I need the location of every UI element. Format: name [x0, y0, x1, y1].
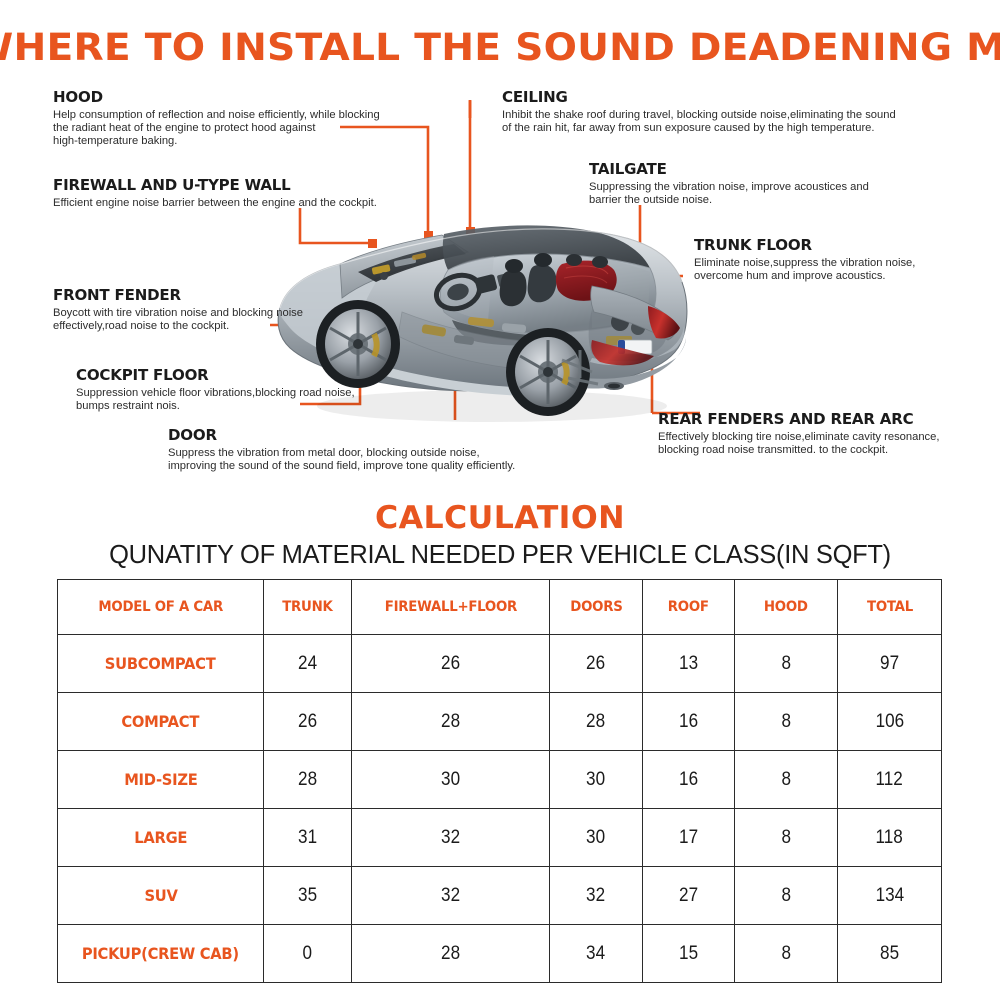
callout-ceiling: CEILING Inhibit the shake roof during tr… — [502, 88, 896, 135]
callout-hood-title: HOOD — [53, 88, 370, 106]
callout-firewall-line-1: Efficient engine noise barrier between t… — [53, 197, 377, 210]
callout-ceiling-body: Inhibit the shake roof during travel, bl… — [502, 109, 896, 135]
cell-trunk: 31 — [264, 809, 352, 867]
callout-tailgate-line-1: Suppressing the vibration noise, improve… — [589, 181, 869, 194]
callout-trunk-floor-line-1: Eliminate noise,suppress the vibration n… — [694, 257, 915, 270]
table-header-row: MODEL OF A CAR TRUNK FIREWALL+FLOOR DOOR… — [58, 580, 942, 635]
callout-hood-line-2: the radiant heat of the engine to protec… — [53, 122, 380, 135]
cell-total: 97 — [838, 635, 942, 693]
callout-hood-line-1: Help consumption of reflection and noise… — [53, 109, 380, 122]
cell-hood: 8 — [735, 635, 838, 693]
cell-roof: 15 — [643, 925, 735, 983]
cell-roof: 16 — [643, 751, 735, 809]
callout-cockpit-floor-line-2: bumps restraint nois. — [76, 400, 355, 413]
callout-trunk-floor-line-2: overcome hum and improve acoustics. — [694, 270, 915, 283]
cell-trunk: 26 — [264, 693, 352, 751]
callout-tailgate-body: Suppressing the vibration noise, improve… — [589, 181, 869, 207]
cell-trunk: 35 — [264, 867, 352, 925]
table-row: LARGE 31 32 30 17 8 118 — [58, 809, 942, 867]
callout-front-fender-body: Boycott with tire vibration noise and bl… — [53, 307, 303, 333]
cell-hood: 8 — [735, 867, 838, 925]
cell-trunk: 28 — [264, 751, 352, 809]
callout-ceiling-title: CEILING — [502, 88, 884, 106]
callout-door-line-1: Suppress the vibration from metal door, … — [168, 447, 515, 460]
callout-tailgate-line-2: barrier the outside noise. — [589, 194, 869, 207]
col-header-roof: ROOF — [643, 580, 735, 635]
cell-doors: 26 — [550, 635, 643, 693]
callout-front-fender-line-2: effectively,road noise to the cockpit. — [53, 320, 303, 333]
cell-firewall-floor: 32 — [352, 867, 550, 925]
callout-rear-fenders: REAR FENDERS AND REAR ARC Effectively bl… — [658, 410, 940, 457]
callout-trunk-floor-title: TRUNK FLOOR — [694, 236, 909, 254]
material-quantity-table: MODEL OF A CAR TRUNK FIREWALL+FLOOR DOOR… — [57, 579, 942, 983]
callout-ceiling-line-1: Inhibit the shake roof during travel, bl… — [502, 109, 896, 122]
callout-cockpit-floor-title: COCKPIT FLOOR — [76, 366, 346, 384]
calculation-subtitle: QUNATITY OF MATERIAL NEEDED PER VEHICLE … — [10, 539, 990, 570]
cell-firewall-floor: 30 — [352, 751, 550, 809]
cell-doors: 34 — [550, 925, 643, 983]
callout-firewall-title: FIREWALL AND U-TYPE WALL — [53, 176, 367, 194]
row-label-cell: SUBCOMPACT — [58, 635, 264, 693]
table-row: PICKUP(CREW CAB) 0 28 34 15 8 85 — [58, 925, 942, 983]
row-label-cell: PICKUP(CREW CAB) — [58, 925, 264, 983]
cell-doors: 30 — [550, 751, 643, 809]
callout-rear-fenders-title: REAR FENDERS AND REAR ARC — [658, 410, 931, 428]
col-header-total: TOTAL — [838, 580, 942, 635]
callout-cockpit-floor-line-1: Suppression vehicle floor vibrations,blo… — [76, 387, 355, 400]
cell-doors: 28 — [550, 693, 643, 751]
callout-cockpit-floor-body: Suppression vehicle floor vibrations,blo… — [76, 387, 355, 413]
callout-rear-fenders-body: Effectively blocking tire noise,eliminat… — [658, 431, 940, 457]
table-row: COMPACT 26 28 28 16 8 106 — [58, 693, 942, 751]
cell-roof: 17 — [643, 809, 735, 867]
callout-door-body: Suppress the vibration from metal door, … — [168, 447, 515, 473]
callout-front-fender-line-1: Boycott with tire vibration noise and bl… — [53, 307, 303, 320]
cell-trunk: 24 — [264, 635, 352, 693]
row-label-cell: COMPACT — [58, 693, 264, 751]
table-row: SUV 35 32 32 27 8 134 — [58, 867, 942, 925]
cell-hood: 8 — [735, 809, 838, 867]
col-header-model: MODEL OF A CAR — [58, 580, 264, 635]
cell-hood: 8 — [735, 751, 838, 809]
callout-hood-body: Help consumption of reflection and noise… — [53, 109, 380, 149]
row-label-cell: LARGE — [58, 809, 264, 867]
cell-total: 134 — [838, 867, 942, 925]
col-header-trunk: TRUNK — [264, 580, 352, 635]
callout-hood-line-3: high-temperature baking. — [53, 135, 380, 148]
callout-front-fender-title: FRONT FENDER — [53, 286, 296, 304]
row-label-cell: MID-SIZE — [58, 751, 264, 809]
table-row: SUBCOMPACT 24 26 26 13 8 97 — [58, 635, 942, 693]
callout-firewall-body: Efficient engine noise barrier between t… — [53, 197, 377, 210]
cell-firewall-floor: 32 — [352, 809, 550, 867]
cell-hood: 8 — [735, 693, 838, 751]
cell-total: 106 — [838, 693, 942, 751]
callout-door-line-2: improving the sound of the sound field, … — [168, 460, 515, 473]
callout-firewall: FIREWALL AND U-TYPE WALL Efficient engin… — [53, 176, 377, 210]
callout-tailgate-title: TAILGATE — [589, 160, 860, 178]
cell-firewall-floor: 28 — [352, 693, 550, 751]
cell-trunk: 0 — [264, 925, 352, 983]
callout-door-title: DOOR — [168, 426, 505, 444]
cell-firewall-floor: 26 — [352, 635, 550, 693]
cell-total: 112 — [838, 751, 942, 809]
callout-ceiling-line-2: of the rain hit, far away from sun expos… — [502, 122, 896, 135]
callout-rear-fenders-line-2: blocking road noise transmitted. to the … — [658, 444, 940, 457]
cell-total: 118 — [838, 809, 942, 867]
cell-doors: 32 — [550, 867, 643, 925]
col-header-firewall-floor: FIREWALL+FLOOR — [352, 580, 550, 635]
cell-firewall-floor: 28 — [352, 925, 550, 983]
calculation-title: CALCULATION — [0, 500, 1000, 536]
cell-hood: 8 — [735, 925, 838, 983]
cell-roof: 16 — [643, 693, 735, 751]
row-label-cell: SUV — [58, 867, 264, 925]
callout-hood: HOOD Help consumption of reflection and … — [53, 88, 380, 149]
col-header-hood: HOOD — [735, 580, 838, 635]
col-header-doors: DOORS — [550, 580, 643, 635]
callout-trunk-floor: TRUNK FLOOR Eliminate noise,suppress the… — [694, 236, 915, 283]
callout-trunk-floor-body: Eliminate noise,suppress the vibration n… — [694, 257, 915, 283]
cell-doors: 30 — [550, 809, 643, 867]
infographic-page: WHERE TO INSTALL THE SOUND DEADENING MAT… — [0, 0, 1000, 1000]
callout-cockpit-floor: COCKPIT FLOOR Suppression vehicle floor … — [76, 366, 355, 413]
cell-roof: 27 — [643, 867, 735, 925]
table-row: MID-SIZE 28 30 30 16 8 112 — [58, 751, 942, 809]
page-title: WHERE TO INSTALL THE SOUND DEADENING MAT… — [0, 26, 1000, 69]
callout-front-fender: FRONT FENDER Boycott with tire vibration… — [53, 286, 303, 333]
cell-total: 85 — [838, 925, 942, 983]
cell-roof: 13 — [643, 635, 735, 693]
callout-door: DOOR Suppress the vibration from metal d… — [168, 426, 515, 473]
callout-tailgate: TAILGATE Suppressing the vibration noise… — [589, 160, 869, 207]
callout-rear-fenders-line-1: Effectively blocking tire noise,eliminat… — [658, 431, 940, 444]
